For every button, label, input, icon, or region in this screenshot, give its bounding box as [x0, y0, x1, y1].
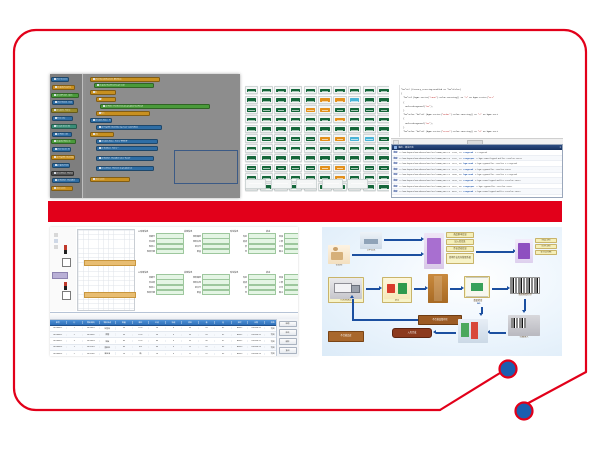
canvas-block[interactable]: call TinyDB1 .StoreValue tag "scan" valu… [96, 125, 162, 130]
table-cell: 02 [215, 327, 232, 329]
canvas-block[interactable]: then [96, 111, 150, 116]
table-header-cell[interactable]: 日期 [248, 321, 265, 324]
table-cell: RK180413 [50, 346, 67, 348]
flow-label-unload: 卸货 [395, 299, 399, 302]
palette-block[interactable]: call TinyDB1 .StoreValue [51, 155, 75, 160]
canvas-block[interactable]: close screen [90, 177, 130, 182]
location-card[interactable] [333, 115, 346, 123]
rail-tag [52, 272, 68, 279]
location-card[interactable] [333, 144, 346, 152]
canvas-block[interactable]: set Label_Status . Text to "ERROR" [96, 139, 158, 144]
location-card[interactable] [377, 96, 389, 104]
form-field[interactable]: 批次号 [184, 244, 230, 248]
console-row-path: C:\WorkSpace\Warehouse\WCS\PLC\Comm_Mon.… [400, 162, 450, 165]
location-card[interactable] [333, 134, 346, 142]
location-card[interactable] [377, 164, 389, 172]
form-field-value[interactable] [156, 249, 184, 255]
flow-label-order: 订单信息 [367, 249, 376, 252]
receiving-table[interactable]: 单号行物料编码物料名称数量单位已收待收库区巷层批次日期状态操作 RK180412… [50, 312, 298, 356]
console-row-symbol: PLCgetOk [464, 190, 474, 193]
location-card[interactable] [363, 144, 376, 152]
form-grid-matrix[interactable] [77, 229, 135, 311]
console-row-num: 3041, 11 [452, 190, 462, 193]
location-card[interactable] [377, 115, 389, 123]
form-field[interactable]: 供应商 [138, 280, 184, 284]
location-card[interactable] [245, 154, 258, 162]
form-field-value[interactable] [284, 249, 298, 255]
location-card[interactable] [318, 134, 331, 142]
arrowhead-label-scan [522, 310, 526, 313]
arrowhead-bad-area-up [350, 295, 354, 298]
flow-label-delivery: 供应商送货 [341, 299, 352, 302]
form-field-label: 列 [230, 291, 247, 294]
location-card[interactable] [348, 144, 361, 152]
location-card[interactable] [245, 105, 258, 113]
form-field-label: 库区 [230, 235, 247, 238]
flow-node-order: 订单信息 [360, 232, 382, 252]
location-card[interactable] [304, 164, 317, 172]
order-icon [360, 232, 382, 249]
close-icon[interactable]: × [560, 146, 561, 149]
console-row-message: = bgm.TypeBuffer.TsValue.ToStr [476, 185, 512, 188]
location-card[interactable] [333, 86, 346, 94]
location-card[interactable] [304, 96, 317, 104]
location-card[interactable] [363, 96, 376, 104]
flow-box-erp-b2: 出入库信息 [446, 239, 474, 245]
location-card[interactable] [289, 144, 302, 152]
table-cell: RK180413 [50, 353, 67, 355]
code-line: "kw">else "kw">if (bgmc.IsList("order").… [403, 113, 498, 116]
console-row-symbol: PLCgetOk [464, 151, 474, 154]
canvas-block[interactable]: set TextBox1 . Text to "" [96, 146, 158, 151]
carton-icon [428, 274, 448, 303]
location-card[interactable] [377, 173, 389, 181]
flow-label-ng: NG [477, 303, 480, 305]
location-card[interactable] [304, 105, 317, 113]
location-card[interactable] [274, 154, 287, 162]
location-card[interactable] [363, 105, 376, 113]
flow-box-db-b1: 商品主档 [535, 238, 557, 243]
location-card[interactable] [245, 134, 258, 142]
flow-box-db-b2: 库存主档 [535, 244, 557, 249]
location-card[interactable] [318, 164, 331, 172]
form-field[interactable]: 制单人 [138, 244, 184, 248]
code-editor[interactable]: "kw">if (factory_starting.Enabled == "kw… [391, 85, 563, 137]
location-card[interactable] [260, 115, 273, 123]
location-card[interactable] [377, 154, 389, 162]
console-row-path: C:\WorkSpace\Warehouse\WCS\PLC\Comm_Mon.… [400, 168, 450, 171]
arrow-shelf-done [436, 332, 456, 334]
form-field[interactable]: 上架 [266, 280, 298, 284]
location-card[interactable] [377, 86, 389, 94]
red-divider-band [48, 201, 562, 222]
console-row-tag: 线程 [394, 190, 398, 193]
form-field-label: 物料名称 [184, 240, 201, 243]
table-cell: 塑料粒 [100, 346, 117, 349]
location-card[interactable] [377, 144, 389, 152]
table-cell: 03 [215, 353, 232, 355]
table-cell: 02 [215, 334, 232, 336]
location-card[interactable] [274, 144, 287, 152]
location-card[interactable] [274, 105, 287, 113]
flow-node-delivery: 供应商送货 [330, 278, 362, 302]
location-card[interactable] [260, 134, 273, 142]
location-card[interactable] [260, 125, 273, 133]
form-field-value[interactable] [202, 249, 230, 255]
form-field-label: 备注 [266, 291, 283, 294]
table-cell: B0412 [232, 334, 249, 336]
table-row[interactable]: RK1804132WL-0102液压油20桶200B0103B04132018-… [50, 351, 298, 356]
palette-block[interactable]: when Clock1 .Timer [52, 147, 71, 152]
palette-block[interactable]: when Screen1 .Initialize [51, 77, 69, 82]
table-cell: 50 [149, 327, 166, 329]
location-card[interactable] [363, 115, 376, 123]
palette-block[interactable]: close screen [51, 186, 73, 191]
flow-diagram-panel: 供应商 订单信息 商品基本信息 出入库信息 作业活动信息 简单作业库存管理系统 … [322, 227, 562, 356]
palette-block[interactable]: set global Count to [52, 85, 75, 90]
location-card[interactable] [318, 96, 331, 104]
location-card[interactable] [245, 115, 258, 123]
code-line: RefreshLogPanel("R1"); [405, 105, 432, 108]
table-cell: 03 [199, 327, 216, 329]
location-card[interactable] [333, 164, 346, 172]
location-card[interactable] [348, 164, 361, 172]
location-card[interactable] [333, 96, 346, 104]
canvas-block[interactable]: when BarcodeScanner1 .AfterScan [90, 77, 160, 82]
forklift-icon [384, 278, 410, 299]
shelving-icon [458, 319, 488, 343]
location-card[interactable] [333, 154, 346, 162]
location-card[interactable] [289, 86, 302, 94]
form-field-group: 货物信息物料编码物料名称批次号数量 [184, 271, 230, 296]
table-toolbar[interactable] [50, 313, 298, 320]
table-header-cell[interactable]: 单位 [133, 321, 150, 324]
form-field[interactable]: 打印 [266, 244, 298, 248]
table-cell: 钢板 [100, 340, 117, 343]
form-field-group: 入库单信息单据号供应商制单人制单日期 [138, 230, 184, 255]
location-card[interactable] [289, 125, 302, 133]
location-card[interactable] [289, 134, 302, 142]
code-line: RefreshLogPanel("R2"); [405, 122, 432, 125]
console-row[interactable]: 线程C:\WorkSpace\Warehouse\WCS\PLC\Comm_Mo… [392, 189, 562, 195]
table-action-button[interactable]: 修改 [279, 329, 297, 336]
location-card[interactable] [289, 115, 302, 123]
form-field[interactable]: 供应商 [138, 239, 184, 243]
location-card[interactable] [274, 115, 287, 123]
form-field[interactable]: 物料名称 [184, 239, 230, 243]
code-line: { [403, 117, 404, 120]
location-card[interactable] [274, 86, 287, 94]
form-field-label: 列 [230, 250, 247, 253]
location-card[interactable] [274, 134, 287, 142]
form-field[interactable]: 备注 [266, 291, 298, 295]
flow-label-scan-in: 扫描录入 [520, 336, 529, 339]
location-card[interactable] [245, 125, 258, 133]
code-line: "kw">else "kw">if (bgmc.IsList("state").… [403, 130, 498, 133]
form-field[interactable]: 制单日期 [138, 250, 184, 254]
form-field-value[interactable] [156, 290, 184, 296]
table-header-cell[interactable]: 待收 [166, 321, 183, 324]
form-field-label: 单据号 [138, 276, 155, 279]
table-header-cell[interactable]: 行 [67, 321, 84, 324]
console-row-path: C:\WorkSpace\Warehouse\WCS\PLC\Comm_Mon.… [400, 185, 450, 188]
form-field[interactable]: 备注 [266, 250, 298, 254]
location-card[interactable] [245, 96, 258, 104]
flow-box-db-b3: 业务活动表 [535, 250, 557, 255]
form-field[interactable]: 批次号 [184, 285, 230, 289]
form-left-rail[interactable] [50, 227, 76, 311]
frame-dot-upper [500, 361, 517, 378]
location-card[interactable] [348, 96, 361, 104]
form-field-group: 货物信息物料编码物料名称批次号数量 [184, 230, 230, 255]
table-header-cell[interactable]: 物料编码 [83, 321, 100, 324]
flow-label-qty: 数量检查 [464, 298, 492, 302]
location-card[interactable] [348, 125, 361, 133]
location-card[interactable] [304, 144, 317, 152]
blocks-editor-panel[interactable]: when Screen1 .Initializeset global Count… [50, 74, 240, 198]
editor-gutter-line [399, 85, 400, 137]
palette-block[interactable]: call ListPicker1 .Open [51, 93, 79, 98]
form-field-label: 巷道 [230, 281, 247, 284]
palette-block[interactable]: when Button1 .Click [52, 100, 74, 105]
table-cell: 1 [67, 327, 84, 329]
palette-block[interactable]: set Label1 . Text to [51, 108, 78, 113]
canvas-block[interactable]: set global ScanResult to get result [94, 83, 154, 88]
flow-node-unload: 卸货 [384, 278, 410, 302]
blocks-canvas[interactable]: when BarcodeScanner1 .AfterScanset globa… [86, 74, 240, 198]
form-field-value[interactable] [202, 290, 230, 296]
table-action-button[interactable]: 查询 [279, 347, 297, 354]
table-cell: 铝型材 [100, 327, 117, 330]
location-card[interactable] [363, 154, 376, 162]
console-row-path: C:\WorkSpace\Warehouse\WCS\PLC\Comm_Mon.… [400, 190, 450, 193]
table-header-cell[interactable]: 巷 [199, 321, 216, 324]
canvas-block[interactable]: do [90, 90, 116, 95]
table-cell: 03 [215, 346, 232, 348]
console-row-num: 2580, 08 [452, 173, 462, 176]
location-card[interactable] [274, 125, 287, 133]
supplier-icon [328, 245, 350, 264]
location-card[interactable] [260, 154, 273, 162]
form-field[interactable]: 数量 [184, 291, 230, 295]
form-field[interactable]: 数量 [184, 250, 230, 254]
location-card[interactable] [363, 134, 376, 142]
flow-label-print: 条形标签打印 [518, 294, 531, 297]
console-row-num: 1874, 08 [452, 162, 462, 165]
rail-node-upper[interactable] [62, 258, 71, 267]
code-line: "kw">if (factory_starting.Enabled == "kw… [401, 88, 461, 91]
receiving-form-area[interactable]: 入库单信息单据号供应商制单人制单日期入库单信息单据号供应商制单人制单日期货物信息… [50, 227, 298, 311]
table-cell: B [182, 353, 199, 355]
canvas-block[interactable]: if [96, 97, 116, 102]
table-cell: 80 [116, 340, 133, 342]
flow-box-erp-system: 简单作业库存管理系统 [446, 253, 474, 264]
location-card[interactable] [274, 96, 287, 104]
table-cell: B0413 [232, 353, 249, 355]
table-cell: 20 [116, 353, 133, 355]
location-card[interactable] [377, 125, 389, 133]
flow-node-label-print: 条形标签打印 [510, 277, 540, 297]
location-card[interactable] [333, 105, 346, 113]
arrow-erp-db [476, 251, 514, 253]
table-action-button[interactable]: 删除 [279, 338, 297, 345]
location-card[interactable] [377, 105, 389, 113]
palette-block[interactable]: set ListView1 . Elements to [51, 171, 74, 176]
location-card[interactable] [304, 86, 317, 94]
location-card[interactable] [333, 125, 346, 133]
form-field[interactable]: 物料名称 [184, 280, 230, 284]
palette-block[interactable]: for each item in list [51, 124, 77, 129]
table-cell: B0412 [232, 327, 249, 329]
table-header-cell[interactable]: 数量 [116, 321, 133, 324]
canvas-block[interactable]: call Web1 .PostText text join get global… [100, 104, 210, 109]
canvas-block[interactable]: set Label_Status . Text to join "OK" get… [90, 118, 112, 123]
arrow-supplier-erp [352, 254, 422, 256]
location-card[interactable] [318, 125, 331, 133]
location-card[interactable] [260, 144, 273, 152]
decorative-frame [0, 0, 600, 450]
console-row-message: = bgm.IsRealTyped.Buffer.TsValue.ToStr [475, 179, 521, 182]
palette-block[interactable]: set global Status to [51, 139, 76, 144]
table-action-button[interactable]: 新增 [279, 321, 297, 328]
flow-box-bad-return: 不合格品库 [328, 331, 364, 342]
rail-node-lower[interactable] [62, 291, 71, 300]
form-field-label: 审核 [266, 235, 283, 238]
flow-node-erp [424, 233, 444, 269]
location-card[interactable] [289, 105, 302, 113]
arrow-bad-area-left [352, 319, 418, 321]
table-cell: RK180412 [50, 340, 67, 342]
flow-node-db [515, 239, 533, 263]
location-card[interactable] [245, 86, 258, 94]
console-row-tag: 线程 [394, 157, 398, 160]
location-card[interactable] [318, 154, 331, 162]
status-legend [245, 179, 368, 189]
location-card[interactable] [363, 86, 376, 94]
code-line: { [401, 92, 402, 95]
rail-status-dark [64, 250, 67, 254]
form-field[interactable]: 上架 [266, 239, 298, 243]
canvas-block[interactable]: else [90, 132, 114, 137]
console-row-tag: 线程 [394, 185, 398, 188]
location-card[interactable] [348, 154, 361, 162]
arrow-order-erp [384, 239, 422, 241]
location-card-grid[interactable] [245, 86, 389, 191]
table-body[interactable]: RK1804121WL-0091铝型材50PCS500A0302B0412201… [50, 326, 298, 356]
location-card[interactable] [289, 154, 302, 162]
location-card[interactable] [260, 96, 273, 104]
form-field-label: 供应商 [138, 281, 155, 284]
location-card[interactable] [260, 164, 273, 172]
location-card[interactable] [260, 86, 273, 94]
location-card[interactable] [245, 164, 258, 172]
ide-panel[interactable]: "kw">if (factory_starting.Enabled == "kw… [391, 85, 563, 198]
table-header-cell[interactable]: 批次 [232, 321, 249, 324]
location-card[interactable] [245, 144, 258, 152]
location-card[interactable] [289, 164, 302, 172]
receiving-app-panel[interactable]: 入库单信息单据号供应商制单人制单日期入库单信息单据号供应商制单人制单日期货物信息… [50, 227, 298, 356]
rail-marker-2 [54, 239, 58, 243]
location-card[interactable] [363, 164, 376, 172]
form-field[interactable]: 打印 [266, 285, 298, 289]
table-cell: 液压油 [100, 352, 117, 355]
table-header-cell[interactable]: 库区 [182, 321, 199, 324]
location-card[interactable] [304, 115, 317, 123]
location-card[interactable] [377, 183, 389, 191]
code-line: "kw">if (bgmc.IsList("conn").Value.ToStr… [403, 96, 494, 99]
form-field-label: 供应商 [138, 240, 155, 243]
canvas-block[interactable]: call Notifier1 .ShowAlert notice "Saved" [96, 156, 154, 161]
legend-chip [245, 179, 266, 189]
flow-box-erp-b1: 商品基本信息 [446, 232, 474, 238]
table-cell: 1 [67, 346, 84, 348]
palette-block[interactable]: if then else [52, 116, 73, 121]
palette-block[interactable]: call Web1 .Get [52, 132, 72, 137]
table-cell: 20 [149, 353, 166, 355]
location-card[interactable] [318, 105, 331, 113]
canvas-block[interactable]: set ListView1 . Elements to get global L… [96, 166, 154, 171]
location-card[interactable] [348, 134, 361, 142]
palette-block[interactable]: get global Index [52, 163, 70, 168]
form-field-label: 物料名称 [184, 281, 201, 284]
scan-hand-icon [508, 315, 540, 336]
location-card[interactable] [304, 125, 317, 133]
form-field-value[interactable] [284, 290, 298, 296]
blocks-palette[interactable]: when Screen1 .Initializeset global Count… [50, 74, 83, 198]
location-card[interactable] [348, 105, 361, 113]
output-console[interactable]: 输出 - 调试日志 × 线程C:\WorkSpace\Warehouse\WCS… [391, 144, 563, 198]
arrow-bad-area-up [352, 299, 354, 321]
form-field-label: 层 [230, 245, 247, 248]
location-card[interactable] [318, 86, 331, 94]
location-card[interactable] [289, 96, 302, 104]
table-cell: PCS [133, 327, 150, 329]
location-card[interactable] [274, 164, 287, 172]
status-grid-panel[interactable] [243, 84, 389, 200]
table-header-cell[interactable]: 单号 [50, 321, 67, 324]
location-card[interactable] [348, 86, 361, 94]
console-row-tag: 线程 [394, 173, 398, 176]
location-card[interactable] [348, 115, 361, 123]
form-field-label: 审核 [266, 276, 283, 279]
table-cell: 2018-04-13 [248, 346, 265, 348]
console-row-message: = bgm.IsRealTyped.Buffer.TsValue.ToStr [475, 190, 521, 193]
inspection-doc-icon [466, 277, 488, 297]
location-card[interactable] [304, 154, 317, 162]
console-row-tag: 线程 [394, 162, 398, 165]
table-cell: 04 [199, 340, 216, 342]
form-field[interactable]: 制单日期 [138, 291, 184, 295]
table-cell: 2018-04-12 [248, 340, 265, 342]
console-row-symbol: PLCgetput [464, 185, 475, 188]
location-card[interactable] [318, 115, 331, 123]
location-card[interactable] [260, 105, 273, 113]
location-card[interactable] [318, 144, 331, 152]
location-card[interactable] [304, 134, 317, 142]
form-field[interactable]: 制单人 [138, 285, 184, 289]
table-cell: 30 [116, 334, 133, 336]
table-header-cell[interactable]: 已收 [149, 321, 166, 324]
form-field-group: 状态审核上架打印备注 [266, 230, 298, 255]
table-header-cell[interactable]: 物料名称 [100, 321, 117, 324]
table-side-buttons[interactable]: 新增修改删除查询导出关闭 [276, 319, 298, 356]
table-header-cell[interactable]: 层 [215, 321, 232, 324]
location-card[interactable] [363, 125, 376, 133]
table-cell: A [182, 334, 199, 336]
console-rows[interactable]: 线程C:\WorkSpace\Warehouse\WCS\PLC\Comm_Mo… [392, 150, 562, 197]
palette-block[interactable]: call Notifier1 .ShowAlert [52, 178, 80, 183]
location-card[interactable] [377, 134, 389, 142]
